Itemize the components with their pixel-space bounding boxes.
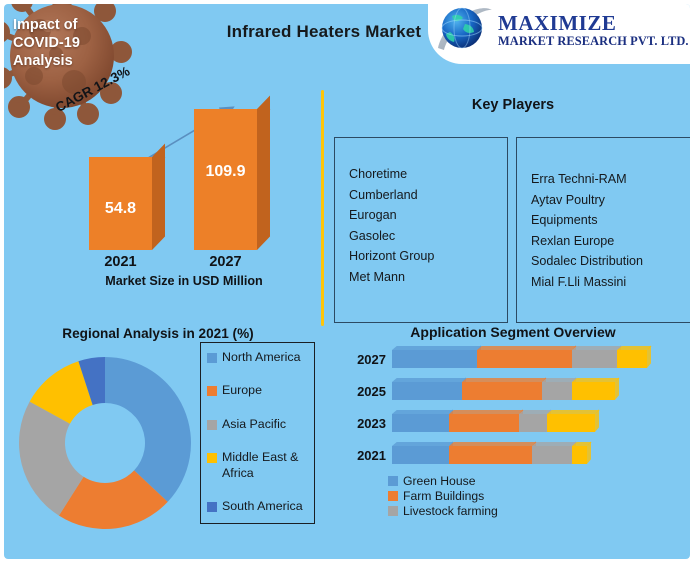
application-category-2025: 2025 [344,384,386,399]
key-player-item: Equipments [531,210,690,231]
infographic-page: Impact of COVID-19 Analysis Infrared Hea… [0,0,694,563]
key-player-item: Horizont Group [349,246,507,267]
key-player-item: Eurogan [349,205,507,226]
market-size-category-2021: 2021 [89,254,152,270]
application-bar-segment [477,350,572,368]
application-bar-segment [449,414,519,432]
legend-label: Livestock farming [403,504,498,518]
application-bar-segment [532,446,572,464]
legend-swatch [207,420,217,430]
application-category-2027: 2027 [344,352,386,367]
globe-icon [434,4,496,58]
market-size-value-2021: 54.8 [89,200,152,218]
donut-svg [16,354,194,532]
logo-title: MAXIMIZE [498,13,689,34]
application-bar-segment [449,446,532,464]
legend-label: Farm Buildings [403,489,484,503]
legend-swatch [207,353,217,363]
legend-label: Europe [222,383,262,398]
legend-label: North America [222,350,301,365]
application-bar-segment [572,350,617,368]
key-players-box-right: Erra Techni-RAM Aytav Poultry Equipments… [516,137,690,323]
market-size-bar-2021: 54.8 [89,157,152,250]
application-bar-segment [392,382,462,400]
application-category-2021: 2021 [344,448,386,463]
key-player-item: Choretime [349,164,507,185]
legend-swatch [388,506,398,516]
legend-label: South America [222,499,303,514]
covid-badge-text: Impact of COVID-19 Analysis [13,16,99,70]
regional-legend: North America Europe Asia Pacific Middle… [200,342,315,524]
key-player-item: Erra Techni-RAM [531,169,690,190]
application-bar-segment [547,414,595,432]
donut-segment [105,357,191,502]
application-bar-segment [542,382,572,400]
key-players-box-left: Choretime Cumberland Eurogan Gasolec Hor… [334,137,508,323]
legend-swatch [388,491,398,501]
key-player-item: Aytav Poultry [531,190,690,211]
logo-subtitle: MARKET RESEARCH PVT. LTD. [498,34,689,49]
company-logo: MAXIMIZE MARKET RESEARCH PVT. LTD. [428,4,690,64]
market-size-chart-title: Market Size in USD Million [64,274,304,288]
legend-label: Middle East & Africa [222,450,314,481]
infographic-canvas: Impact of COVID-19 Analysis Infrared Hea… [4,4,690,559]
application-legend: Green House Farm Buildings Livestock far… [388,474,498,519]
application-bar-segment [617,350,647,368]
market-size-bar-2027: 109.9 [194,109,257,250]
application-bar-segment [392,350,477,368]
application-bar-segment [392,414,449,432]
legend-item: Livestock farming [388,504,498,518]
legend-label: Green House [403,474,476,488]
vertical-divider [321,90,324,326]
regional-donut-chart [16,354,194,537]
key-player-item: Mial F.Lli Massini [531,272,690,293]
covid-badge-line-1: Impact of [13,16,99,34]
application-bar-segment [572,446,587,464]
legend-swatch [207,502,217,512]
legend-item: Asia Pacific [207,417,314,432]
application-bar-segment [572,382,615,400]
market-size-value-2027: 109.9 [194,163,257,181]
application-chart-title: Application Segment Overview [334,324,690,340]
legend-item: Europe [207,383,314,398]
key-player-item: Cumberland [349,185,507,206]
regional-chart-title: Regional Analysis in 2021 (%) [18,326,298,341]
legend-label: Asia Pacific [222,417,286,432]
key-players-title: Key Players [334,97,690,113]
key-player-item: Rexlan Europe [531,231,690,252]
legend-swatch [207,453,217,463]
legend-item: Middle East & Africa [207,450,314,481]
legend-item: South America [207,499,314,514]
market-size-category-2027: 2027 [194,254,257,270]
covid-badge-line-2: COVID-19 [13,34,99,52]
legend-item: North America [207,350,314,365]
legend-swatch [207,386,217,396]
key-player-item: Sodalec Distribution [531,251,690,272]
legend-item: Farm Buildings [388,489,498,503]
application-bar-segment [519,414,547,432]
key-player-item: Gasolec [349,226,507,247]
application-bar-segment [462,382,542,400]
legend-item: Green House [388,474,498,488]
legend-swatch [388,476,398,486]
application-bar-segment [392,446,449,464]
covid-badge-line-3: Analysis [13,52,99,70]
key-player-item: Met Mann [349,267,507,288]
application-category-2023: 2023 [344,416,386,431]
